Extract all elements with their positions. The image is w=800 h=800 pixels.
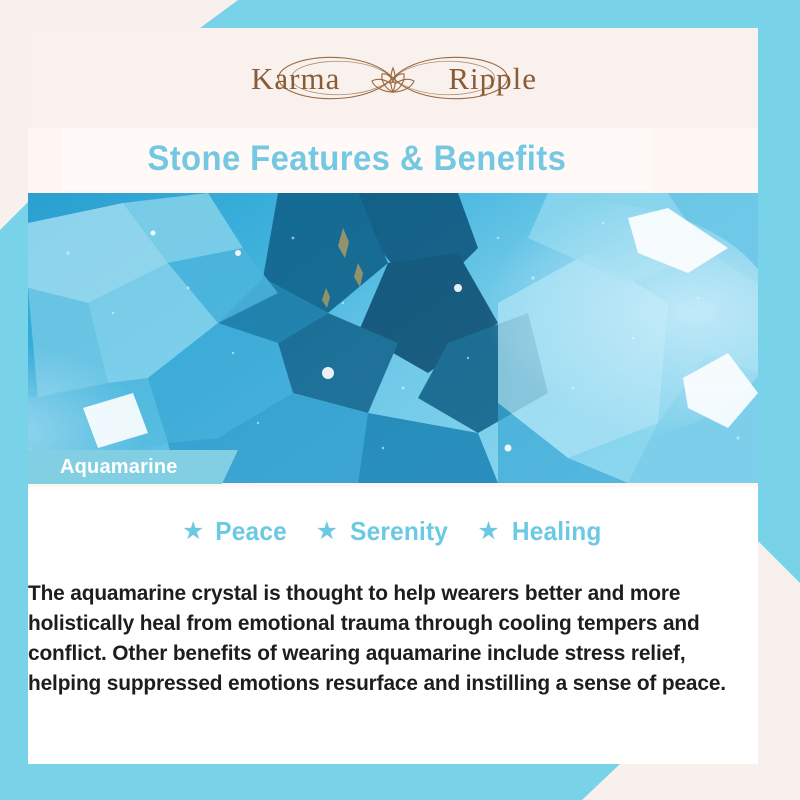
keyword-label: Serenity [350, 516, 448, 547]
crystal-photo-art [28, 193, 758, 483]
frame-accent-right [758, 28, 800, 583]
brand-logo: Karma Ripple [243, 47, 543, 109]
star-icon: ★ [316, 519, 338, 544]
brand-name-right: Ripple [448, 61, 537, 97]
stone-name-label: Aquamarine [60, 456, 178, 479]
star-icon: ★ [477, 519, 499, 544]
keyword-item-serenity: ★ Serenity [316, 516, 452, 547]
brand-name-left: Karma [251, 61, 340, 97]
keyword-label: Peace [216, 516, 288, 547]
star-icon: ★ [182, 519, 204, 544]
description-text: The aquamarine crystal is thought to hel… [28, 578, 744, 699]
stone-name-banner: Aquamarine [28, 450, 238, 484]
brand-header: Karma Ripple [28, 28, 758, 128]
keyword-item-healing: ★ Healing [477, 516, 604, 547]
frame-accent-top [200, 0, 800, 28]
crystal-photo [28, 193, 758, 483]
page-title: Stone Features & Benefits [148, 139, 567, 179]
title-band: Stone Features & Benefits [62, 128, 652, 190]
keyword-list: ★ Peace ★ Serenity ★ Healing [28, 512, 758, 550]
frame-accent-bottom [0, 764, 620, 800]
stone-info-card: Karma Ripple Stone Features & Benefits [0, 0, 800, 800]
keyword-label: Healing [512, 516, 602, 547]
keyword-item-peace: ★ Peace [182, 516, 290, 547]
